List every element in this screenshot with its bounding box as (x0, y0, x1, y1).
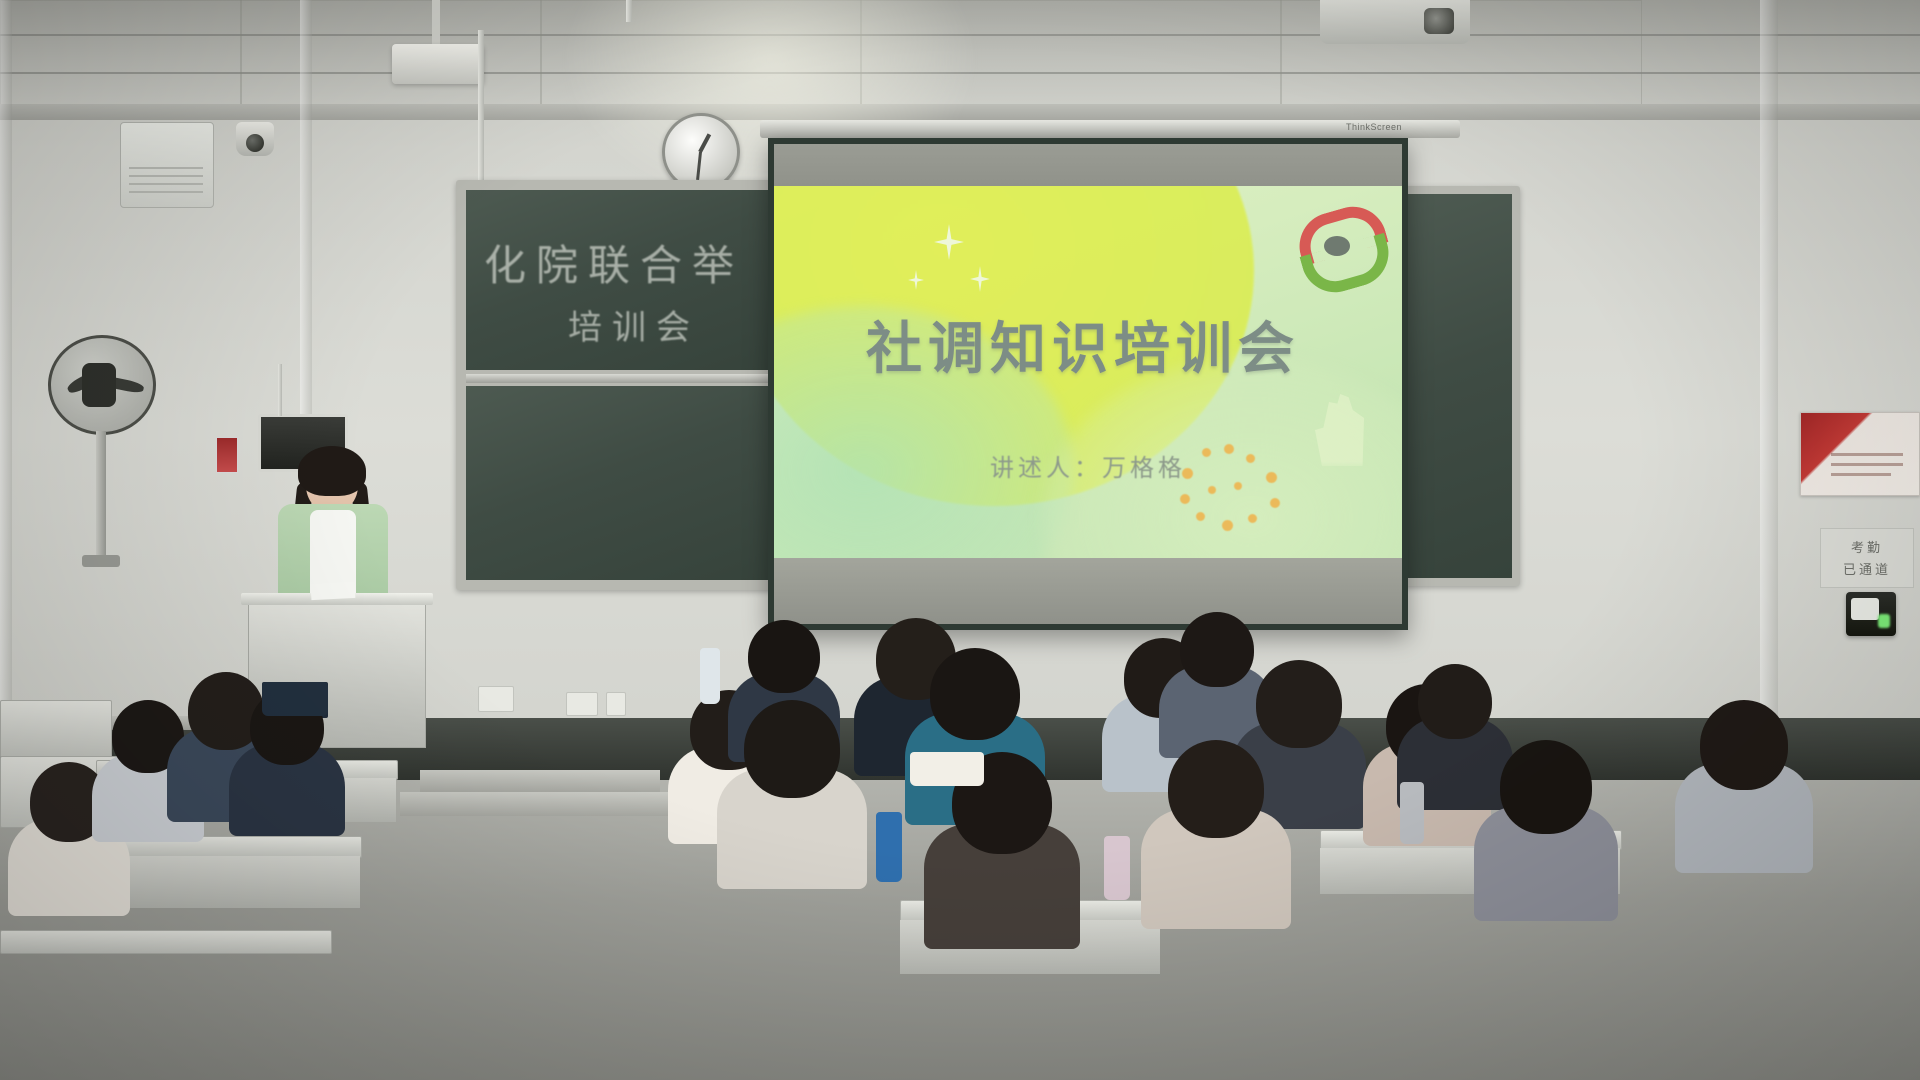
student-mid-3 (744, 700, 840, 882)
water-bottle-pink (1104, 836, 1130, 900)
dais-step-1 (420, 770, 660, 792)
air-conditioner (120, 122, 214, 208)
decorative-dots (1178, 442, 1296, 534)
security-camera (236, 122, 274, 156)
chalk-line-2: 培训会 (568, 300, 700, 349)
slide-subtitle: 讲述人：万格格 (990, 448, 1186, 483)
student-mid-7 (1180, 612, 1254, 753)
desk-row-left-3 (0, 930, 332, 954)
presentation-slide: 社调知识培训会 讲述人：万格格 (774, 186, 1402, 558)
screen-dead-band-top (774, 144, 1402, 186)
ceiling-projector (1320, 0, 1470, 44)
student-head (744, 700, 840, 798)
student-head (1180, 612, 1254, 687)
student-head (1700, 700, 1788, 790)
student-right-3 (1418, 664, 1492, 805)
reader-status-led (1878, 614, 1890, 628)
projection-screen-case: ThinkScreen (760, 120, 1460, 138)
student-right-5 (1168, 740, 1264, 922)
student-head (1256, 660, 1342, 748)
wall-fan (48, 335, 156, 435)
chalkboard-right (1408, 194, 1512, 578)
water-bottle-clear (700, 648, 720, 704)
student-right-7 (1700, 700, 1788, 867)
wall-poster (1800, 412, 1920, 496)
laptop-screen (262, 682, 328, 716)
chalkboard-left-lower (466, 386, 776, 580)
reader-display (1851, 598, 1879, 620)
screen-brand-label: ThinkScreen (1346, 122, 1402, 132)
projector-lens (1424, 8, 1454, 34)
projector-mount (196, 0, 288, 78)
wall-socket-1 (478, 686, 514, 712)
podium-papers (311, 582, 356, 600)
dais-step-2 (400, 792, 680, 816)
attendance-card-reader[interactable] (1846, 592, 1896, 636)
wall-socket-2 (566, 692, 598, 716)
organization-logo (1290, 208, 1376, 284)
chalk-line-1: 化院联合举 (484, 232, 744, 293)
open-notebook (910, 752, 984, 786)
conduit-rod-2 (626, 0, 632, 22)
wall-socket-3 (606, 692, 626, 716)
classroom-photo: 化院联合举 培训会 ThinkScreen (0, 0, 1920, 1080)
student-head (1418, 664, 1492, 739)
notice-sign: 考勤 已通道 (1820, 528, 1914, 588)
notice-line-2: 已通道 (1821, 559, 1913, 578)
student-head (1168, 740, 1264, 838)
screen-dead-band-bottom (774, 558, 1402, 624)
speaker-antenna (278, 364, 282, 416)
notice-line-1: 考勤 (1821, 537, 1913, 556)
water-bottle-blue (876, 812, 902, 882)
student-right-1 (1256, 660, 1342, 823)
cabinet (0, 700, 112, 758)
fire-alarm-sign (216, 437, 238, 473)
chalk-ledge-left (466, 374, 776, 383)
student-head (1500, 740, 1592, 834)
student-head (748, 620, 820, 693)
student-right-4 (1500, 740, 1592, 915)
student-head (930, 648, 1020, 740)
thermos-grey (1400, 782, 1424, 844)
slide-title: 社调知识培训会 (866, 304, 1300, 385)
